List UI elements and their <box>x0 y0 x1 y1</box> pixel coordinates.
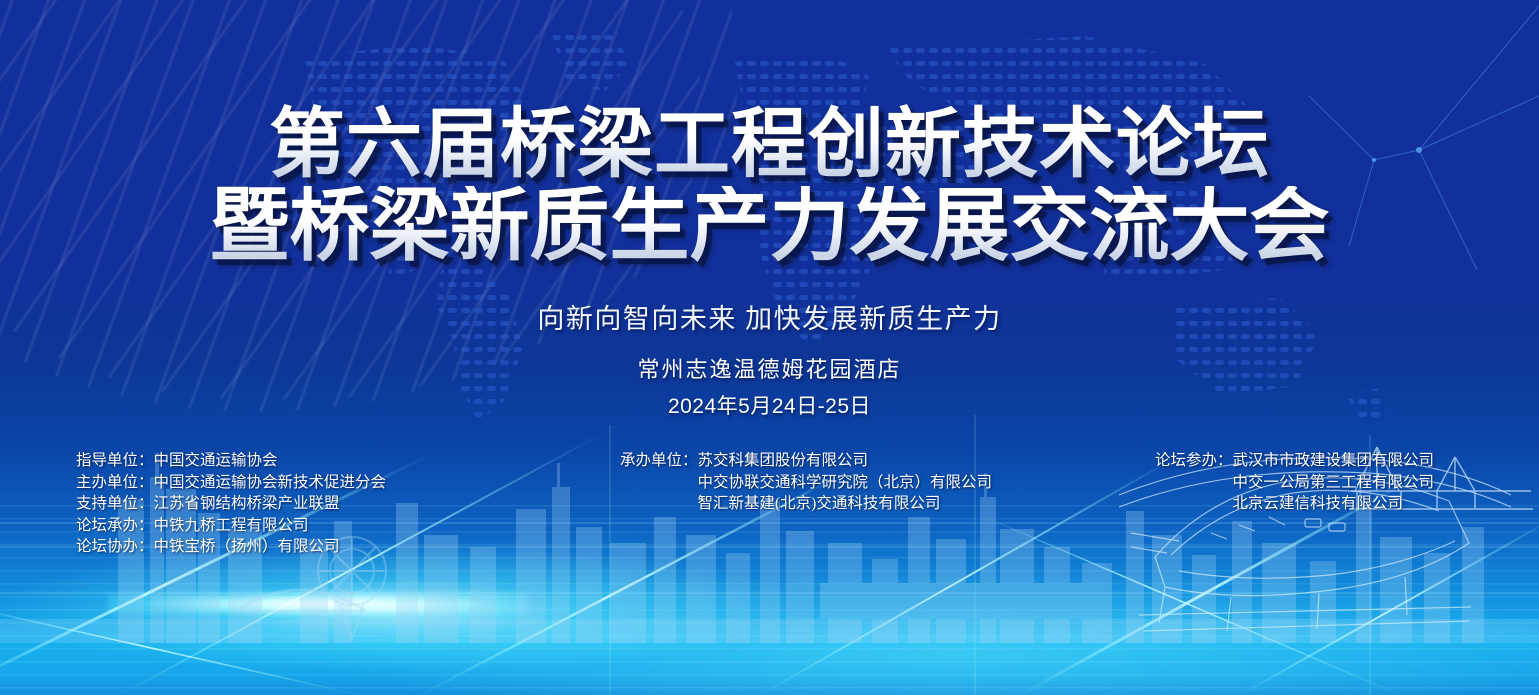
venue-place: 常州志逸温德姆花园酒店 <box>0 352 1539 384</box>
organizer-values: 苏交科集团股份有限公司中交协联交通科学研究院（北京）有限公司智汇新基建(北京)交… <box>698 450 993 515</box>
organizer-value: 武汉市市政建设集团有限公司 <box>1233 450 1435 472</box>
organizer-label: 主办单位： <box>76 472 154 494</box>
organizer-row: 论坛协办：中铁宝桥（扬州）有限公司 <box>76 536 386 558</box>
conference-banner: 第六届桥梁工程创新技术论坛 暨桥梁新质生产力发展交流大会 向新向智向未来 加快发… <box>0 0 1539 695</box>
venue-date: 2024年5月24日-25日 <box>0 390 1539 420</box>
organizer-value: 中交协联交通科学研究院（北京）有限公司 <box>698 472 993 494</box>
organizer-row: 论坛承办：中铁九桥工程有限公司 <box>76 515 386 537</box>
organizer-row: 论坛参办：武汉市市政建设集团有限公司中交一公局第三工程有限公司北京云建信科技有限… <box>1155 450 1434 515</box>
organizer-column-right: 论坛参办：武汉市市政建设集团有限公司中交一公局第三工程有限公司北京云建信科技有限… <box>1155 450 1434 515</box>
organizer-label: 支持单位： <box>76 493 154 515</box>
organizer-values: 中国交通运输协会 <box>154 450 278 472</box>
organizer-row: 主办单位：中国交通运输协会新技术促进分会 <box>76 472 386 494</box>
organizer-column-middle: 承办单位：苏交科集团股份有限公司中交协联交通科学研究院（北京）有限公司智汇新基建… <box>620 450 992 515</box>
banner-title: 第六届桥梁工程创新技术论坛 暨桥梁新质生产力发展交流大会 <box>0 104 1539 268</box>
organizer-column-left: 指导单位：中国交通运输协会主办单位：中国交通运输协会新技术促进分会支持单位：江苏… <box>76 450 386 558</box>
organizer-label: 指导单位： <box>76 450 154 472</box>
organizer-row: 承办单位：苏交科集团股份有限公司中交协联交通科学研究院（北京）有限公司智汇新基建… <box>620 450 992 515</box>
organizer-value: 中铁九桥工程有限公司 <box>154 515 309 537</box>
organizer-values: 中国交通运输协会新技术促进分会 <box>154 472 387 494</box>
organizer-value: 中交一公局第三工程有限公司 <box>1233 472 1435 494</box>
banner-content: 第六届桥梁工程创新技术论坛 暨桥梁新质生产力发展交流大会 向新向智向未来 加快发… <box>0 0 1539 695</box>
organizer-value: 中国交通运输协会新技术促进分会 <box>154 472 387 494</box>
organizer-label: 承办单位： <box>620 450 698 515</box>
organizer-value: 苏交科集团股份有限公司 <box>698 450 993 472</box>
organizer-values: 中铁宝桥（扬州）有限公司 <box>154 536 340 558</box>
organizer-values: 武汉市市政建设集团有限公司中交一公局第三工程有限公司北京云建信科技有限公司 <box>1233 450 1435 515</box>
organizer-value: 北京云建信科技有限公司 <box>1233 493 1435 515</box>
title-line-2: 暨桥梁新质生产力发展交流大会 <box>0 186 1539 268</box>
venue-block: 常州志逸温德姆花园酒店 2024年5月24日-25日 <box>0 352 1539 420</box>
organizer-label: 论坛承办： <box>76 515 154 537</box>
organizer-value: 江苏省钢结构桥梁产业联盟 <box>154 493 340 515</box>
organizer-values: 江苏省钢结构桥梁产业联盟 <box>154 493 340 515</box>
organizer-value: 智汇新基建(北京)交通科技有限公司 <box>698 493 993 515</box>
organizer-value: 中国交通运输协会 <box>154 450 278 472</box>
title-line-1: 第六届桥梁工程创新技术论坛 <box>0 104 1539 186</box>
organizer-row: 指导单位：中国交通运输协会 <box>76 450 386 472</box>
organizer-value: 中铁宝桥（扬州）有限公司 <box>154 536 340 558</box>
organizer-label: 论坛参办： <box>1155 450 1233 515</box>
organizer-label: 论坛协办： <box>76 536 154 558</box>
organizer-values: 中铁九桥工程有限公司 <box>154 515 309 537</box>
organizer-row: 支持单位：江苏省钢结构桥梁产业联盟 <box>76 493 386 515</box>
banner-slogan: 向新向智向未来 加快发展新质生产力 <box>0 297 1539 336</box>
